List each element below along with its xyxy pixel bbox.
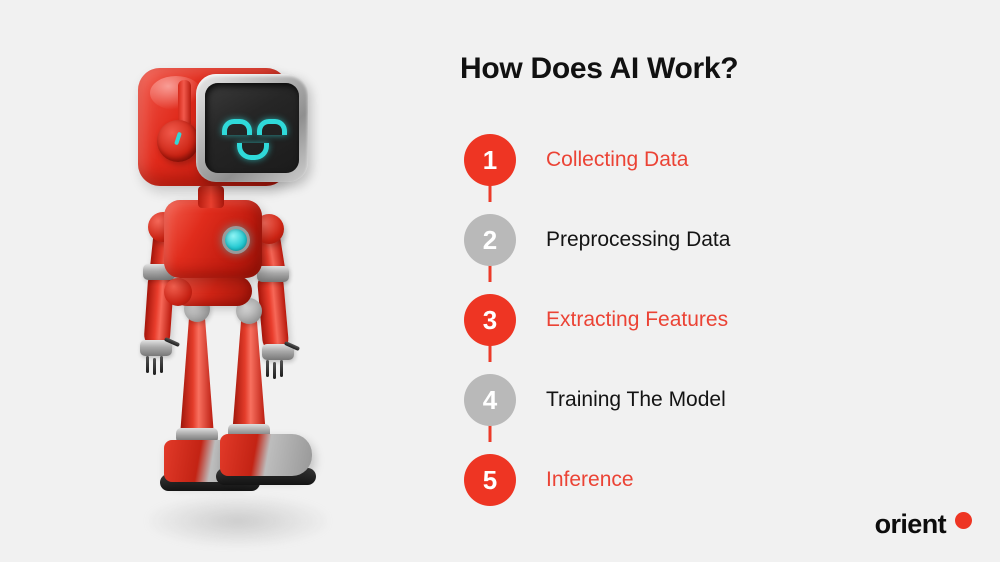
brand-logo: orient xyxy=(875,509,972,540)
robot-right-eye-icon xyxy=(257,119,287,135)
robot-right-finger xyxy=(280,360,283,377)
step-badge-2: 2 xyxy=(464,214,516,266)
page-title: How Does AI Work? xyxy=(460,52,738,86)
robot-head xyxy=(138,68,313,193)
robot-screen-bezel xyxy=(196,74,308,182)
step-badge-5: 5 xyxy=(464,454,516,506)
list-item: 5 Inference xyxy=(460,440,980,520)
infographic-canvas: How Does AI Work? 1 Collecting Data 2 Pr… xyxy=(0,0,1000,562)
robot-left-finger xyxy=(153,358,156,375)
robot-right-finger xyxy=(266,360,269,377)
robot-hip-joint xyxy=(164,278,192,306)
robot-chest-light-icon xyxy=(222,226,250,254)
logo-wordmark: orient xyxy=(875,509,946,540)
list-item: 3 Extracting Features xyxy=(460,280,980,360)
content-panel: How Does AI Work? 1 Collecting Data 2 Pr… xyxy=(440,0,1000,562)
robot-head-highlight xyxy=(150,76,202,110)
robot-floor-shadow xyxy=(148,495,328,547)
step-badge-4: 4 xyxy=(464,374,516,426)
steps-list: 1 Collecting Data 2 Preprocessing Data 3… xyxy=(460,120,980,520)
robot-right-finger xyxy=(273,362,276,379)
list-item: 2 Preprocessing Data xyxy=(460,200,980,280)
step-label-2: Preprocessing Data xyxy=(546,228,730,252)
robot-smile-icon xyxy=(237,143,269,160)
step-label-1: Collecting Data xyxy=(546,148,688,172)
robot-torso xyxy=(164,200,262,278)
robot-left-finger xyxy=(146,356,149,373)
step-label-3: Extracting Features xyxy=(546,308,728,332)
step-label-5: Inference xyxy=(546,468,634,492)
robot-right-foot xyxy=(220,434,312,476)
robot-left-leg xyxy=(180,302,214,436)
list-item: 4 Training The Model xyxy=(460,360,980,440)
list-item: 1 Collecting Data xyxy=(460,120,980,200)
robot-left-eye-icon xyxy=(222,119,252,135)
step-badge-1: 1 xyxy=(464,134,516,186)
robot-head-knob xyxy=(157,120,199,162)
robot-face-screen xyxy=(205,83,299,173)
robot-right-elbow-band xyxy=(257,266,289,282)
robot-illustration-panel xyxy=(0,0,440,562)
robot-left-finger xyxy=(160,356,163,373)
logo-dot-icon xyxy=(955,512,972,529)
step-label-4: Training The Model xyxy=(546,388,726,412)
robot-figure xyxy=(60,40,380,540)
step-badge-3: 3 xyxy=(464,294,516,346)
robot-knob-indicator-icon xyxy=(174,132,182,146)
